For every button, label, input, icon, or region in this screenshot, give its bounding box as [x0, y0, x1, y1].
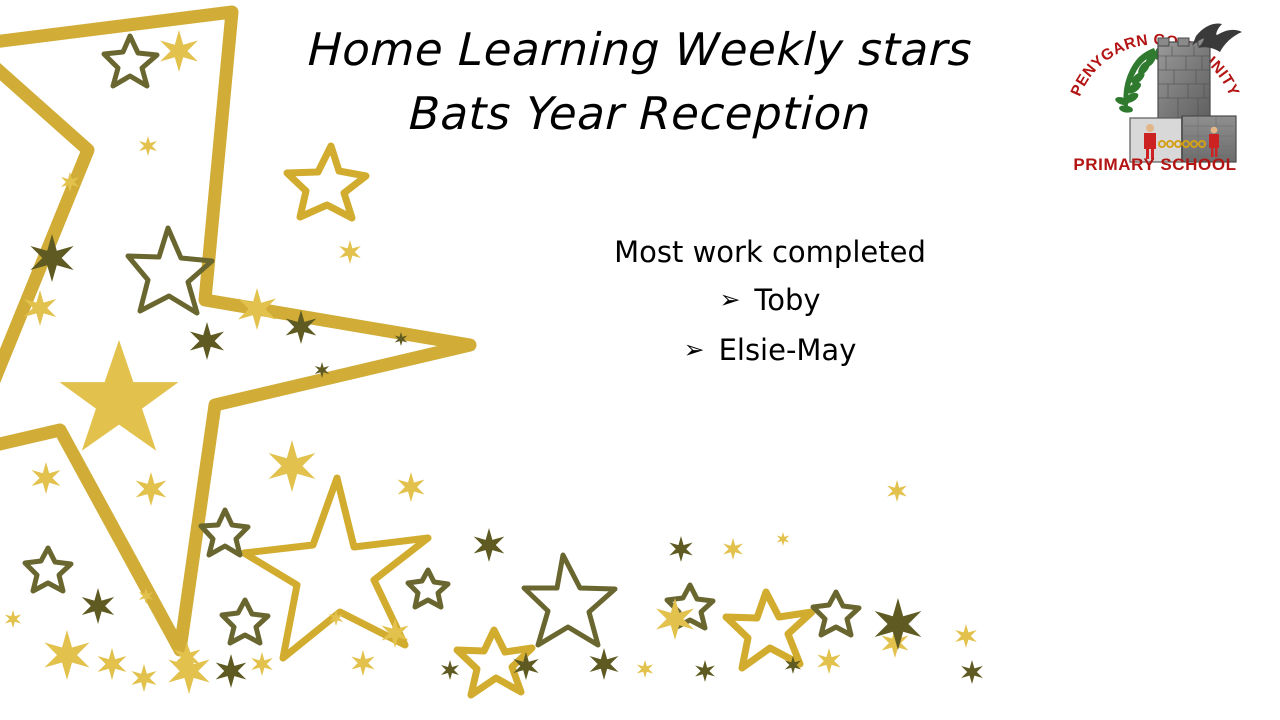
castle-tower-icon — [1158, 38, 1210, 120]
slide-canvas: Home Learning Weekly stars Bats Year Rec… — [0, 0, 1280, 720]
list-item: ➢Elsie-May — [500, 326, 1040, 376]
school-logo: PENYGARN COMMUNITY — [1062, 8, 1248, 174]
title-block: Home Learning Weekly stars Bats Year Rec… — [180, 18, 1100, 146]
title-line-1: Home Learning Weekly stars — [179, 18, 1101, 82]
logo-bottom-text: PRIMARY SCHOOL — [1073, 155, 1236, 174]
content-heading: Most work completed — [500, 228, 1040, 276]
title-line-2: Bats Year Reception — [179, 82, 1101, 146]
list-item: ➢Toby — [500, 276, 1040, 326]
student-name: Elsie-May — [719, 333, 857, 367]
arrow-bullet-icon: ➢ — [719, 285, 740, 314]
content-block: Most work completed ➢Toby ➢Elsie-May — [500, 228, 1040, 376]
student-name: Toby — [754, 283, 820, 317]
arrow-bullet-icon: ➢ — [684, 335, 705, 364]
